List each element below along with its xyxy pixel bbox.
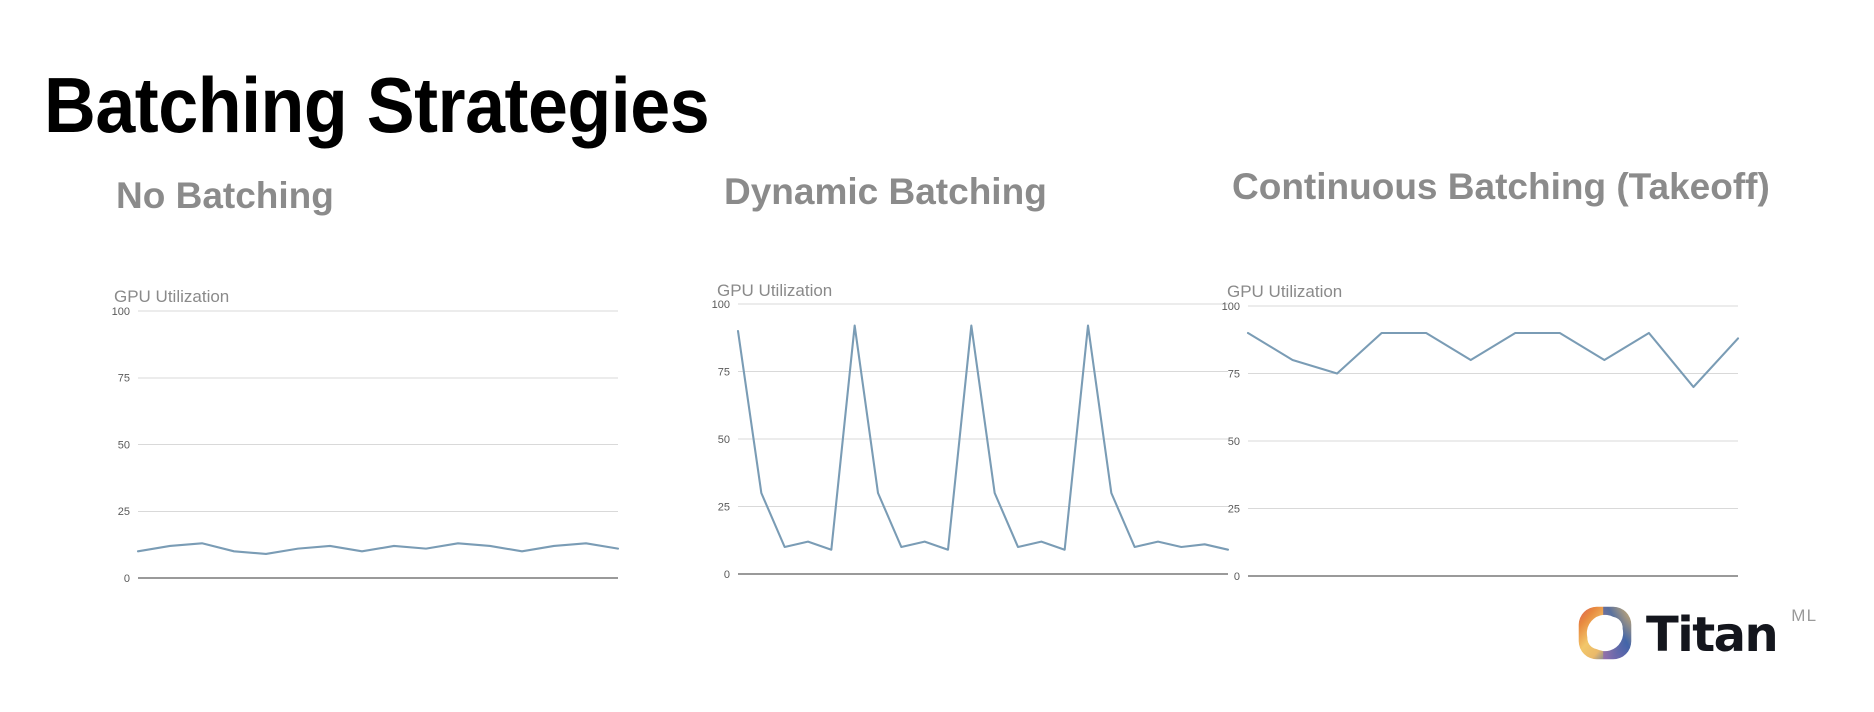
brand-logo: Titan ML bbox=[1576, 598, 1856, 668]
brand-superscript: ML bbox=[1791, 606, 1817, 626]
y-tick-label: 0 bbox=[1234, 571, 1240, 583]
y-tick-label: 0 bbox=[724, 569, 730, 581]
chart-continuous-batching: 0255075100 bbox=[1214, 300, 1744, 588]
y-tick-label: 75 bbox=[1228, 368, 1240, 380]
y-tick-label: 100 bbox=[1222, 301, 1240, 313]
chart-svg-continuous-batching: 0255075100 bbox=[1214, 300, 1744, 588]
panel-no-batching: No Batching GPU Utilization 0255075100 bbox=[0, 0, 620, 712]
y-tick-label: 25 bbox=[1228, 503, 1240, 515]
chart-svg-no-batching: 0255075100 bbox=[104, 305, 624, 590]
panel-heading-continuous-batching: Continuous Batching (Takeoff) bbox=[1232, 168, 1770, 205]
y-tick-label: 50 bbox=[718, 434, 730, 446]
y-tick-label: 50 bbox=[1228, 436, 1240, 448]
y-tick-label: 100 bbox=[112, 306, 130, 318]
series-line bbox=[138, 543, 618, 554]
y-tick-label: 75 bbox=[718, 366, 730, 378]
panel-heading-no-batching: No Batching bbox=[116, 177, 334, 214]
panel-heading-dynamic-batching: Dynamic Batching bbox=[724, 173, 1047, 210]
chart-no-batching: 0255075100 bbox=[104, 305, 624, 590]
y-tick-label: 75 bbox=[118, 373, 130, 385]
y-tick-label: 50 bbox=[118, 439, 130, 451]
brand-wordmark: Titan bbox=[1646, 611, 1777, 659]
y-tick-label: 25 bbox=[718, 501, 730, 513]
y-tick-label: 0 bbox=[124, 573, 130, 585]
y-tick-label: 25 bbox=[118, 506, 130, 518]
titan-ring-icon bbox=[1576, 604, 1634, 662]
series-line bbox=[1248, 333, 1738, 387]
chart-caption-dynamic-batching: GPU Utilization bbox=[717, 282, 832, 299]
y-tick-label: 100 bbox=[712, 299, 730, 311]
chart-caption-continuous-batching: GPU Utilization bbox=[1227, 283, 1342, 300]
chart-caption-no-batching: GPU Utilization bbox=[114, 288, 229, 305]
